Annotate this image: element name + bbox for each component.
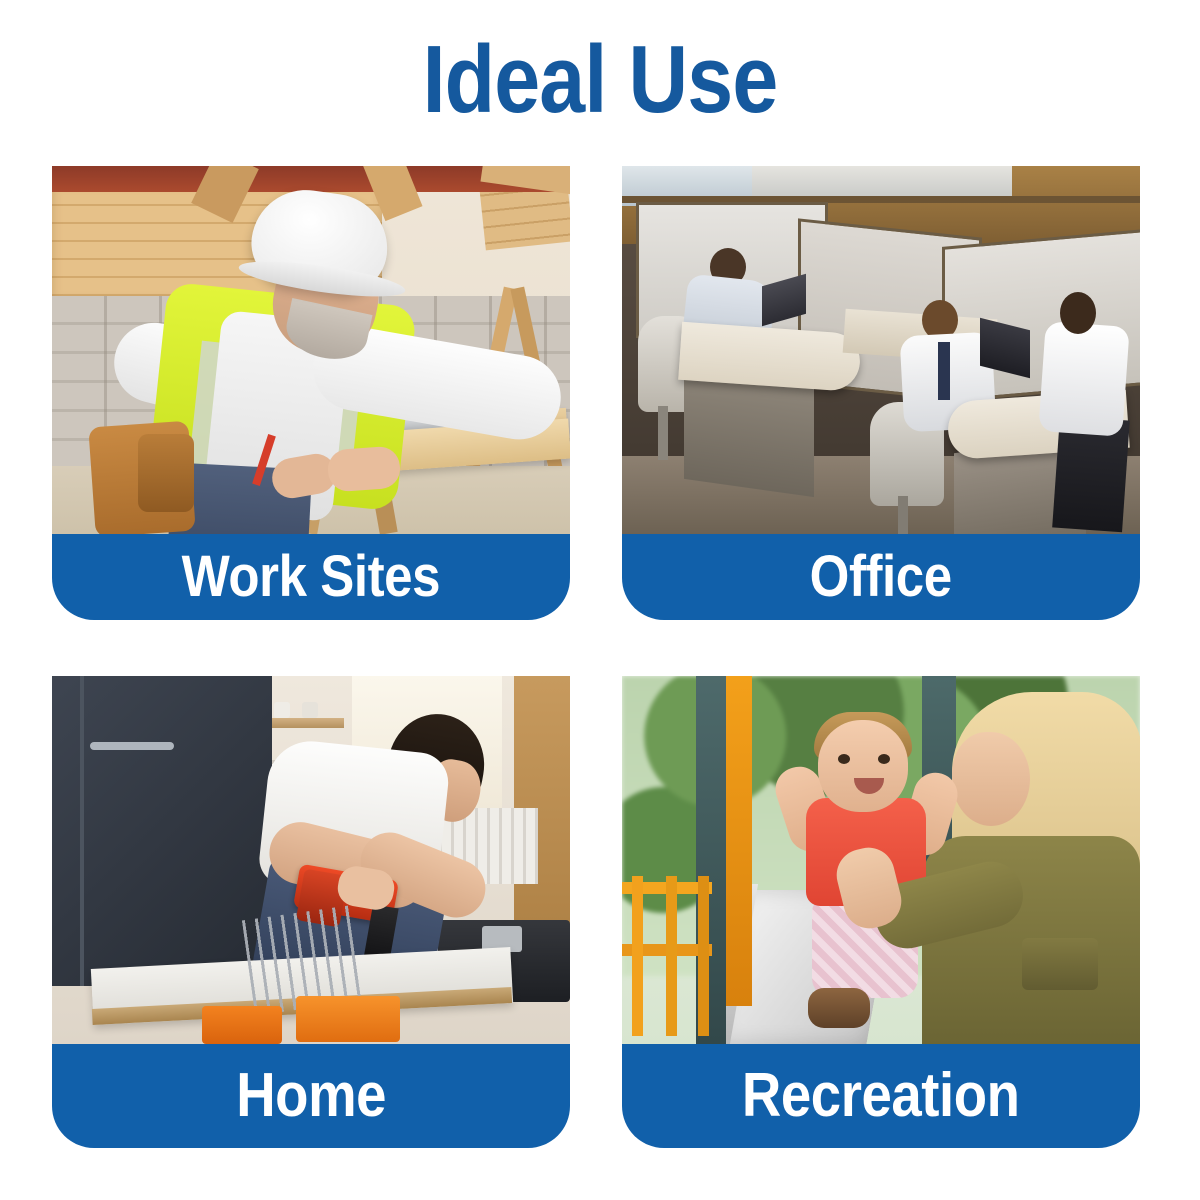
ideal-use-infographic: Ideal Use	[0, 0, 1200, 1200]
use-case-card-recreation[interactable]: Recreation	[622, 676, 1140, 1148]
use-case-card-office[interactable]: Office	[622, 166, 1140, 620]
page-title: Ideal Use	[84, 26, 1116, 134]
work-sites-photo	[52, 166, 570, 534]
recreation-label-bar: Recreation	[622, 1044, 1140, 1148]
home-photo	[52, 676, 570, 1044]
use-case-label: Office	[810, 547, 952, 607]
use-case-label: Recreation	[742, 1066, 1020, 1126]
use-case-card-work-sites[interactable]: Work Sites	[52, 166, 570, 620]
office-photo	[622, 166, 1140, 534]
use-case-grid: Work Sites	[52, 166, 1142, 1148]
office-label-bar: Office	[622, 534, 1140, 620]
use-case-label: Work Sites	[182, 547, 440, 607]
recreation-photo	[622, 676, 1140, 1044]
use-case-card-home[interactable]: Home	[52, 676, 570, 1148]
home-label-bar: Home	[52, 1044, 570, 1148]
work-sites-label-bar: Work Sites	[52, 534, 570, 620]
use-case-label: Home	[236, 1066, 386, 1126]
